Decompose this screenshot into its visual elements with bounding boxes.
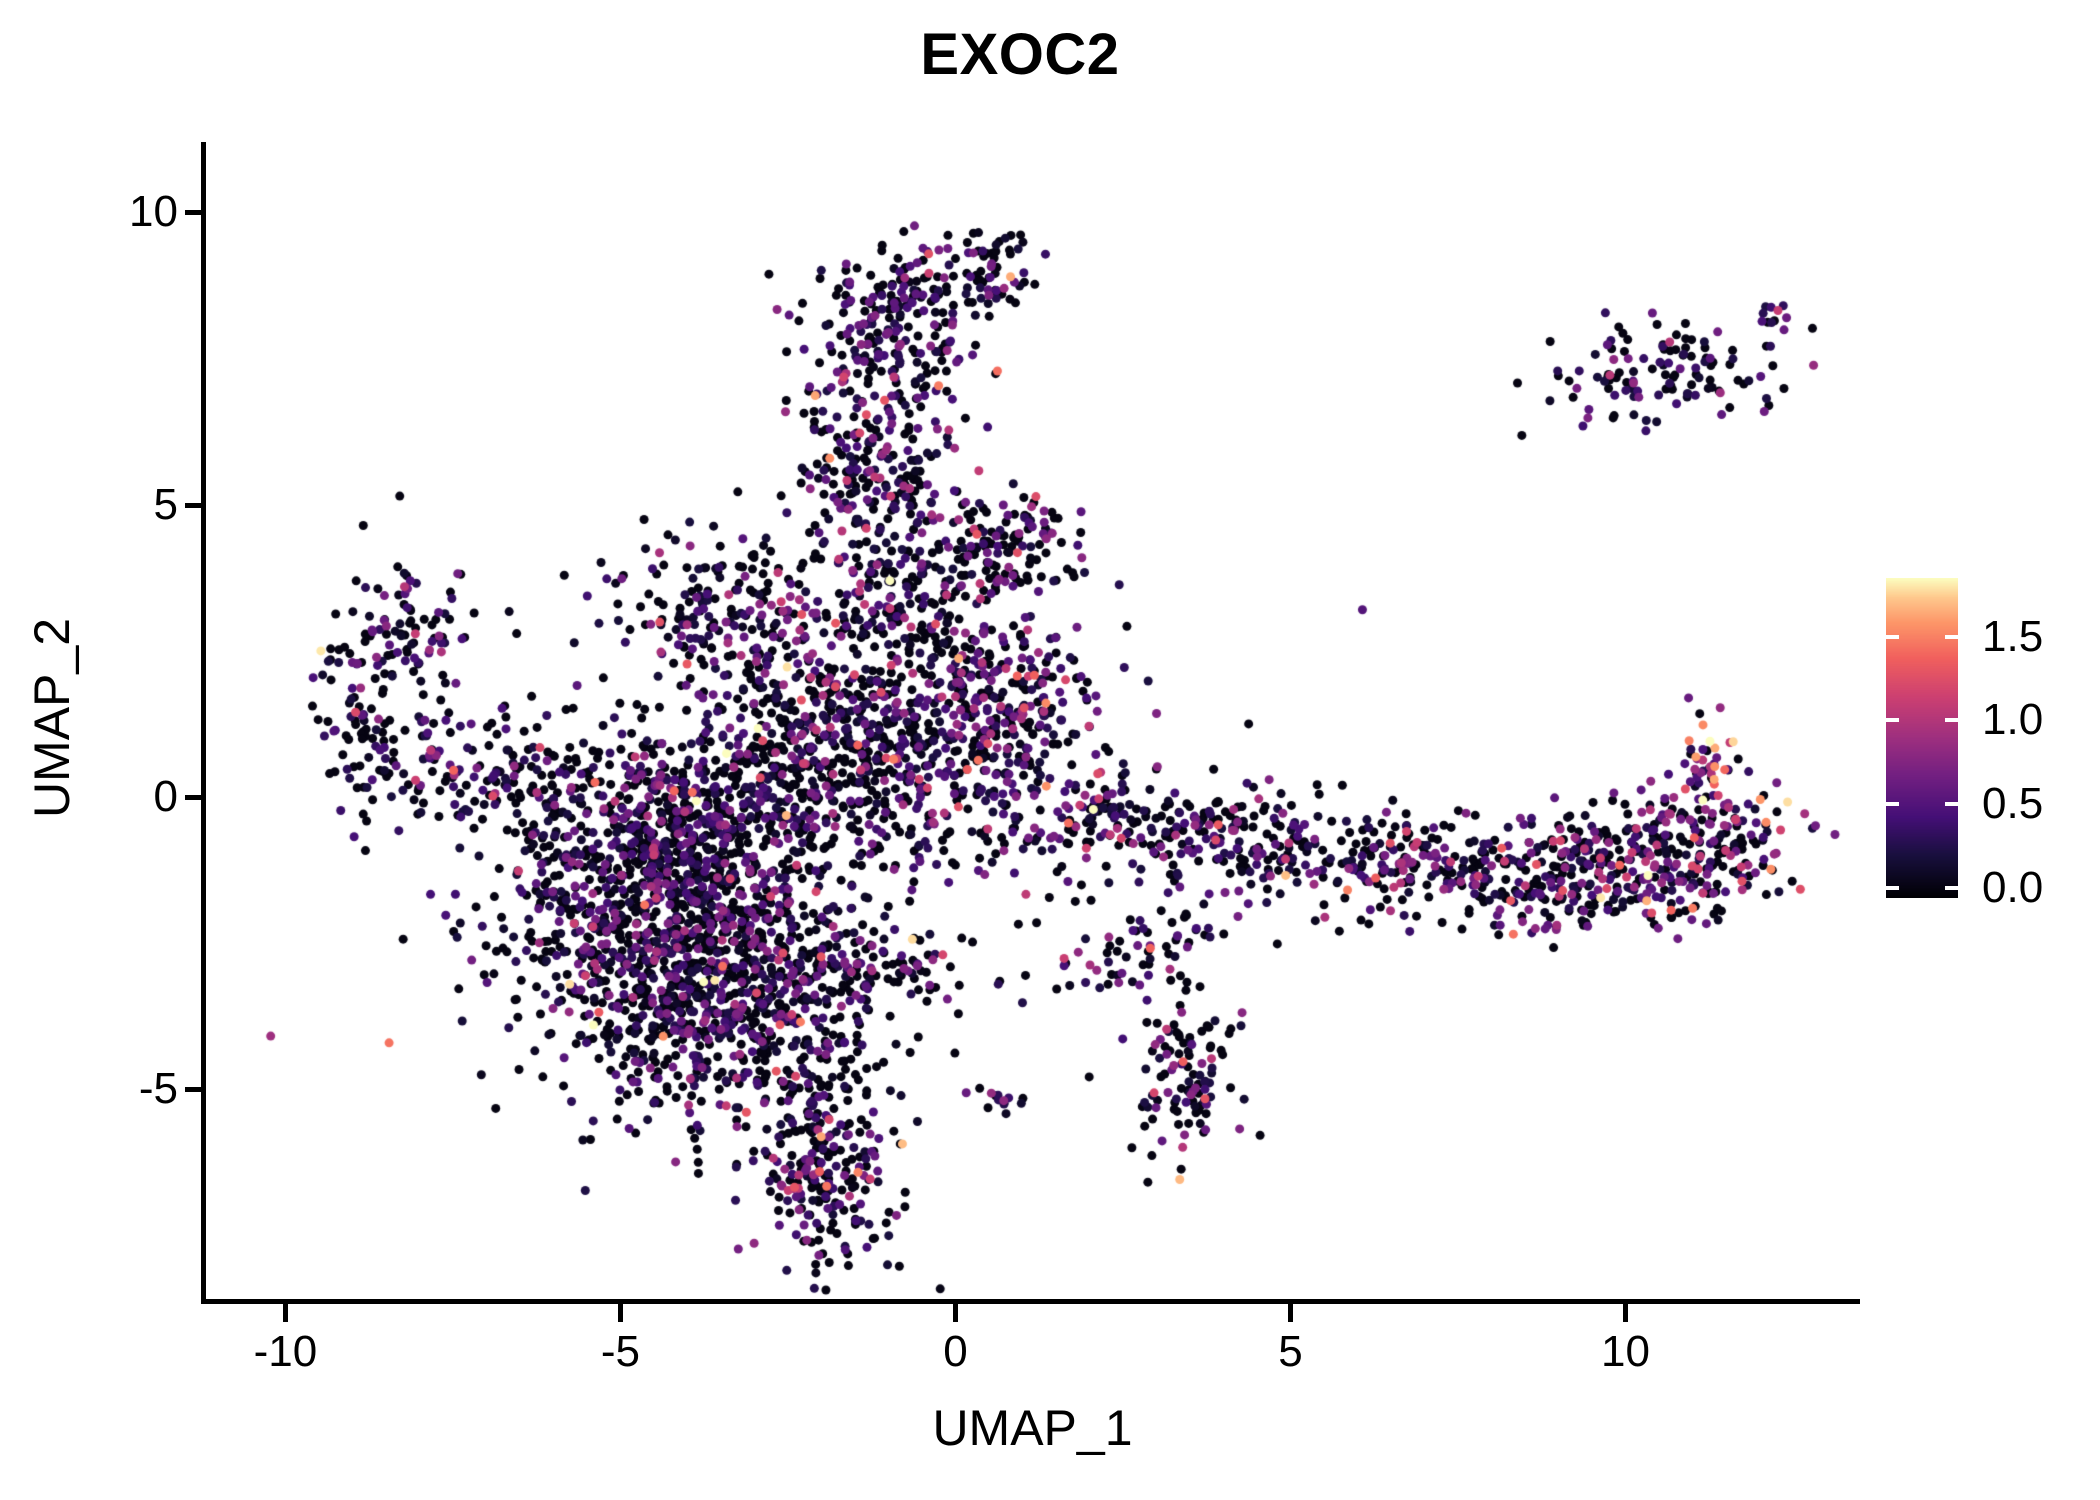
x-tick-mark bbox=[953, 1304, 958, 1322]
y-tick-mark bbox=[185, 503, 203, 508]
x-tick-mark bbox=[618, 1304, 623, 1322]
x-tick-mark bbox=[283, 1304, 288, 1322]
colorbar-gradient bbox=[1886, 578, 1958, 898]
y-tick-mark bbox=[185, 795, 203, 800]
colorbar-tick-mark bbox=[1945, 802, 1958, 806]
page-title: EXOC2 bbox=[0, 20, 2040, 90]
y-tick-label: -5 bbox=[139, 1067, 178, 1111]
colorbar-tick-label: 1.5 bbox=[1982, 615, 2043, 659]
x-tick-label: 10 bbox=[1601, 1330, 1650, 1374]
colorbar-tick-label: 0.0 bbox=[1982, 866, 2043, 910]
x-tick-label: 5 bbox=[1278, 1330, 1302, 1374]
x-axis-line bbox=[201, 1299, 1860, 1304]
colorbar-tick-mark bbox=[1945, 635, 1958, 639]
y-tick-mark bbox=[185, 1087, 203, 1092]
scatter-plot-area bbox=[205, 142, 1860, 1300]
colorbar-tick-mark bbox=[1886, 635, 1899, 639]
x-tick-mark bbox=[1623, 1304, 1628, 1322]
y-tick-mark bbox=[185, 210, 203, 215]
y-tick-label: 10 bbox=[129, 190, 178, 234]
plot-panel bbox=[205, 142, 1860, 1300]
y-axis-title: UMAP_2 bbox=[24, 368, 80, 1068]
x-axis-title: UMAP_1 bbox=[0, 1400, 2065, 1456]
y-tick-label: 5 bbox=[154, 483, 178, 527]
colorbar-tick-mark bbox=[1886, 802, 1899, 806]
x-tick-label: -10 bbox=[254, 1330, 318, 1374]
x-tick-label: 0 bbox=[943, 1330, 967, 1374]
x-tick-mark bbox=[1288, 1304, 1293, 1322]
colorbar-tick-label: 0.5 bbox=[1982, 782, 2043, 826]
umap-feature-plot: EXOC2 -50510 -10-50510 UMAP_1 UMAP_2 0.0… bbox=[0, 0, 2100, 1500]
colorbar-tick-mark bbox=[1886, 718, 1899, 722]
colorbar-tick-mark bbox=[1945, 886, 1958, 890]
colorbar-tick-label: 1.0 bbox=[1982, 698, 2043, 742]
colorbar-tick-mark bbox=[1886, 886, 1899, 890]
color-legend: 0.00.51.01.5 bbox=[1886, 578, 2086, 908]
x-tick-label: -5 bbox=[601, 1330, 640, 1374]
colorbar-tick-mark bbox=[1945, 718, 1958, 722]
y-axis-line bbox=[201, 142, 206, 1304]
y-tick-label: 0 bbox=[154, 775, 178, 819]
